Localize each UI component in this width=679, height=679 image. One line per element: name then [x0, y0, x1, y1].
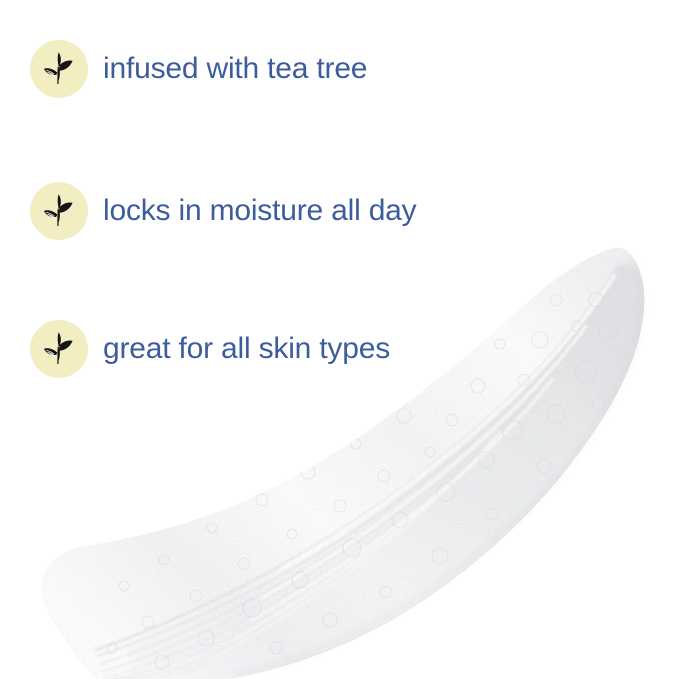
benefit-label: great for all skin types — [103, 332, 390, 366]
benefit-item-2: locks in moisture all day — [30, 182, 416, 240]
benefit-item-3: great for all skin types — [30, 320, 390, 378]
tea-leaf-sprig-icon — [30, 182, 88, 240]
benefit-label: infused with tea tree — [103, 52, 367, 86]
tea-leaf-sprig-icon — [30, 320, 88, 378]
benefit-label: locks in moisture all day — [103, 194, 416, 228]
benefit-item-1: infused with tea tree — [30, 40, 367, 98]
product-benefits-image: infused with tea tree — [0, 0, 679, 679]
tea-leaf-sprig-icon — [30, 40, 88, 98]
benefits-list: infused with tea tree — [0, 0, 679, 679]
